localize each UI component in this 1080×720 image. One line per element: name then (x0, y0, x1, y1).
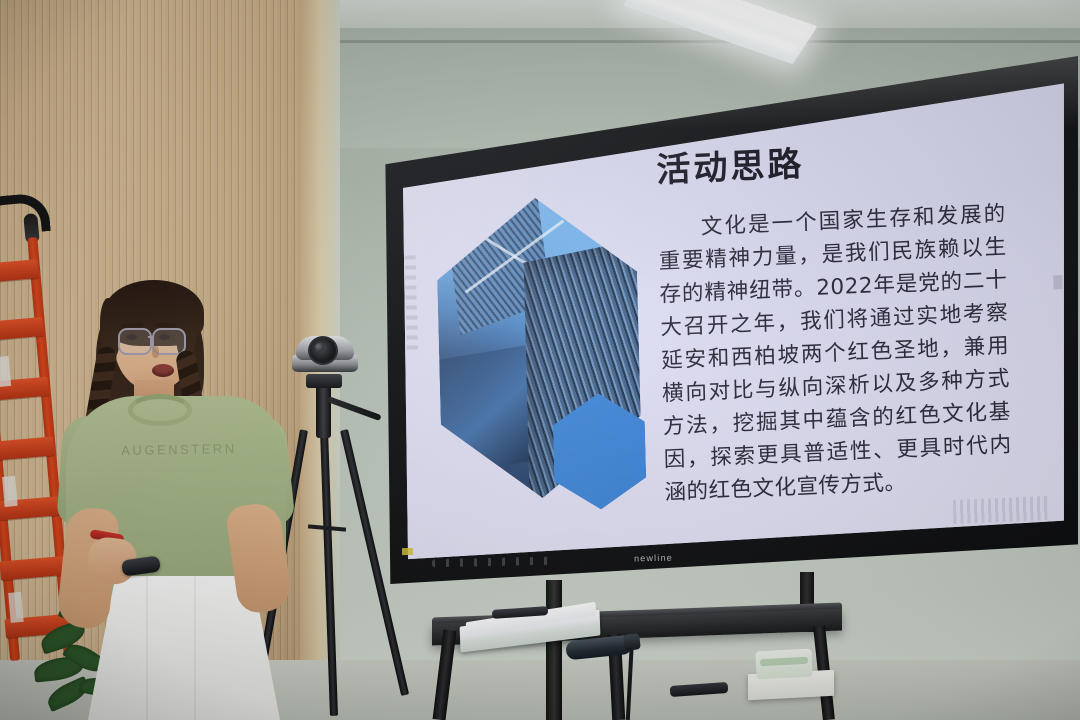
slide-title: 活动思路 (656, 136, 805, 191)
presentation-room-photo: 活动思路 文化是一个国家生存和发展的重要精神力量，是我们民族赖以生存的精神纽带。… (0, 0, 1080, 720)
glasses-bridge (148, 336, 154, 338)
stand-post (546, 580, 562, 720)
presenter: AUGENSTERN (60, 276, 300, 720)
ceiling-seam (300, 40, 1080, 43)
thermos-cap (623, 633, 641, 651)
slide-watermark-right (1053, 275, 1062, 289)
slide-watermark (953, 496, 1050, 524)
interactive-flat-panel[interactable]: 活动思路 文化是一个国家生存和发展的重要精神力量，是我们民族赖以生存的精神纽带。… (372, 56, 1078, 584)
shirt-print-text: AUGENSTERN (104, 441, 254, 459)
panel-brand-logo: newline (634, 553, 673, 564)
hexagon-architecture-collage (429, 193, 657, 522)
tripod-head (306, 374, 342, 388)
ladder-tape (8, 592, 24, 623)
ladder-tape (2, 476, 18, 507)
ladder-step (0, 556, 65, 581)
panel-badge (402, 548, 413, 555)
camera-lens-glass (315, 343, 324, 352)
ladder-tape (0, 356, 11, 387)
slide-body-text: 文化是一个国家生存和发展的重要精神力量，是我们民族赖以生存的精神纽带。2022年… (658, 198, 1013, 510)
mouth (152, 364, 174, 377)
tripod-pan-handle[interactable] (327, 396, 382, 421)
tripod-column (316, 382, 331, 438)
tripod-leg (320, 430, 338, 716)
camera-lens-icon (308, 336, 338, 365)
skirt-fold (146, 576, 148, 720)
nose (152, 346, 159, 358)
shirt-collar (128, 394, 192, 426)
skirt-fold (194, 576, 196, 720)
glasses-lens-left (118, 328, 152, 355)
slide-watermark-left (405, 255, 418, 351)
